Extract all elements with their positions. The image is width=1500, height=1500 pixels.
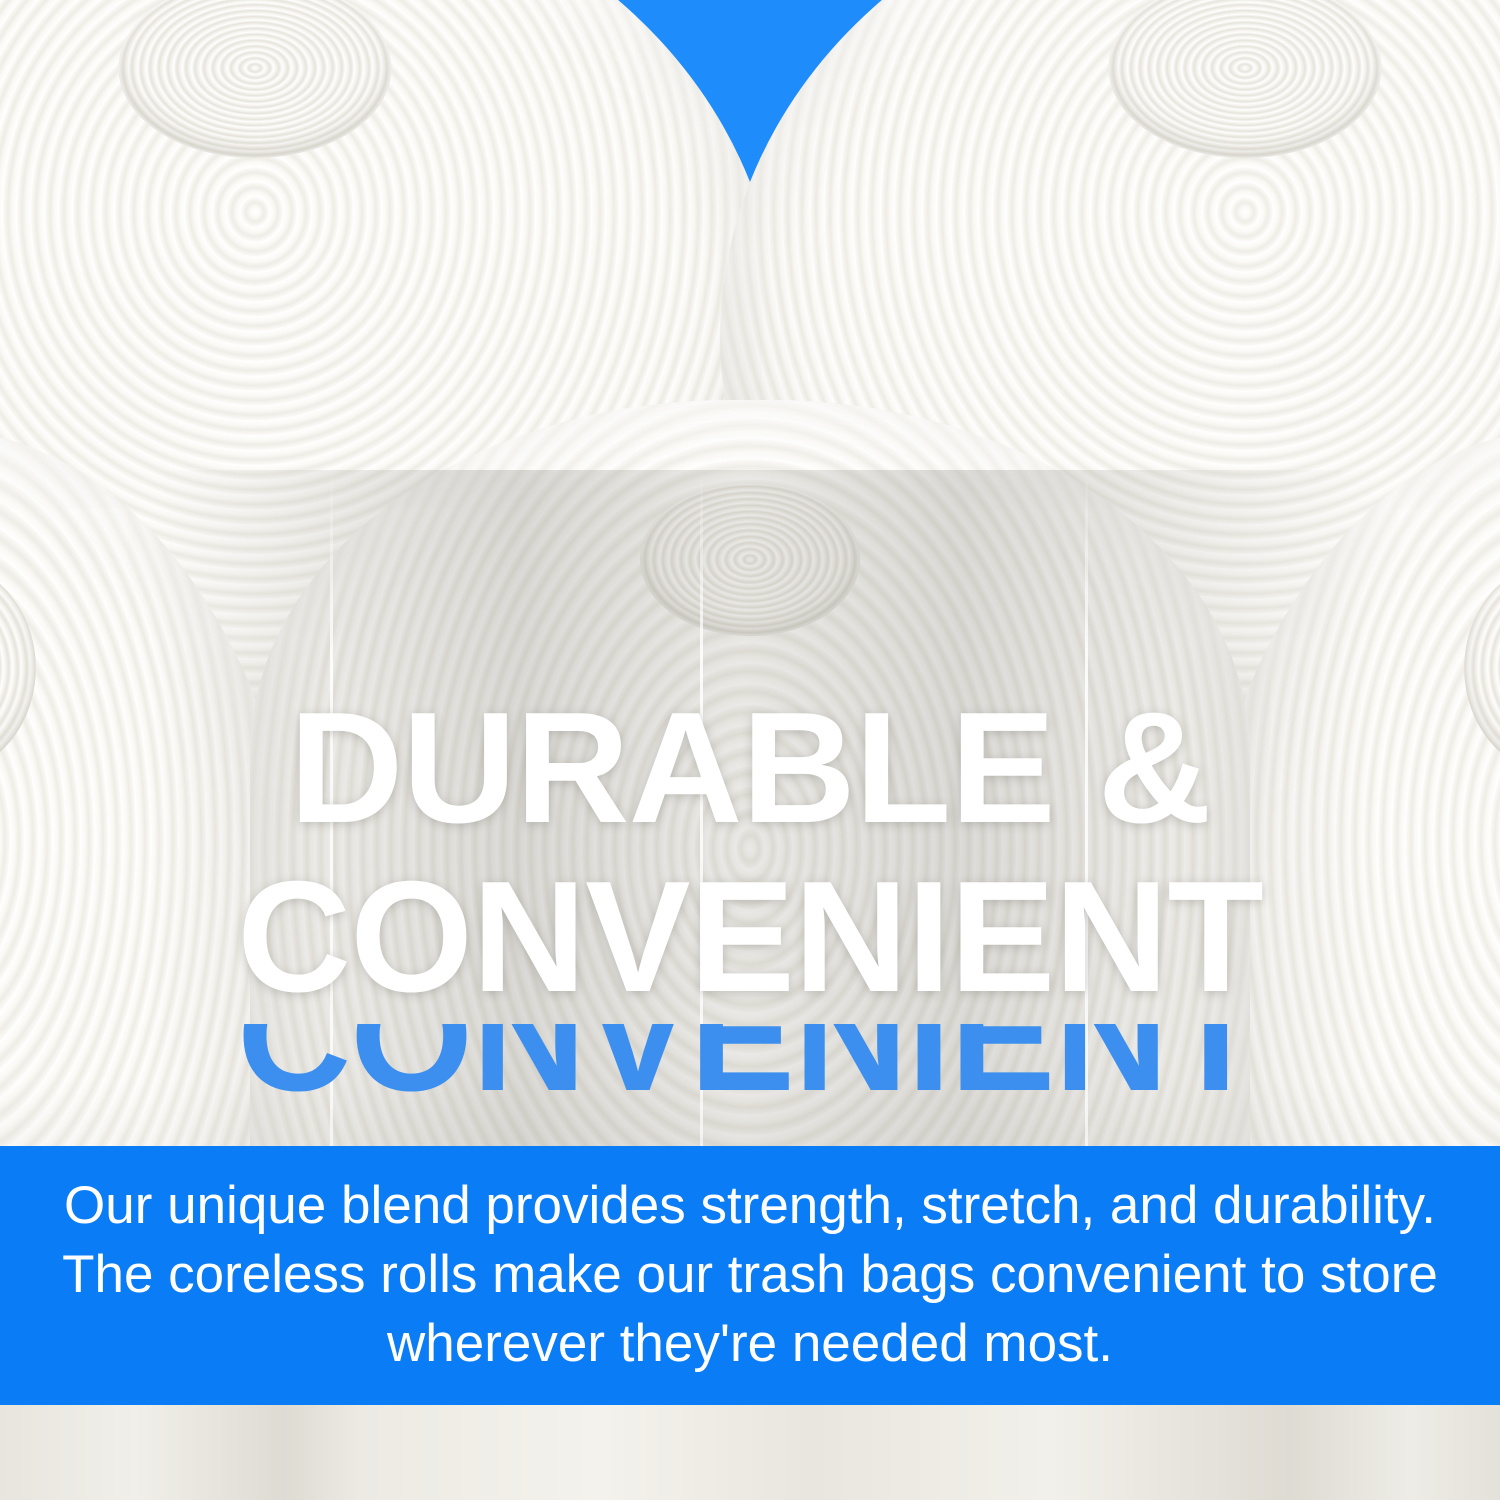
caption-bar: Our unique blend provides strength, stre… — [0, 1146, 1500, 1405]
headline-echo-line2-text: CONVENIENT — [237, 1024, 1263, 1111]
headline-echo-line1: DURABLE & — [0, 595, 1500, 690]
caption-line-2: The coreless rolls make our trash bags c… — [62, 1241, 1438, 1310]
headline-echo-line2: CONVENIENT — [0, 1024, 1500, 1116]
headline-line2-text: CONVENIENT — [237, 849, 1263, 1025]
caption-line-3: wherever they're needed most. — [387, 1310, 1113, 1379]
headline-line1-text: DURABLE & — [289, 680, 1210, 856]
photo-bottom-strip — [0, 1405, 1500, 1500]
caption-line-1: Our unique blend provides strength, stre… — [64, 1172, 1436, 1241]
headline-line1: DURABLE & — [0, 693, 1500, 843]
headline-line2: CONVENIENT — [0, 862, 1500, 1012]
product-feature-image: DURABLE & DURABLE & CONVENIENT CONVENIEN… — [0, 0, 1500, 1500]
